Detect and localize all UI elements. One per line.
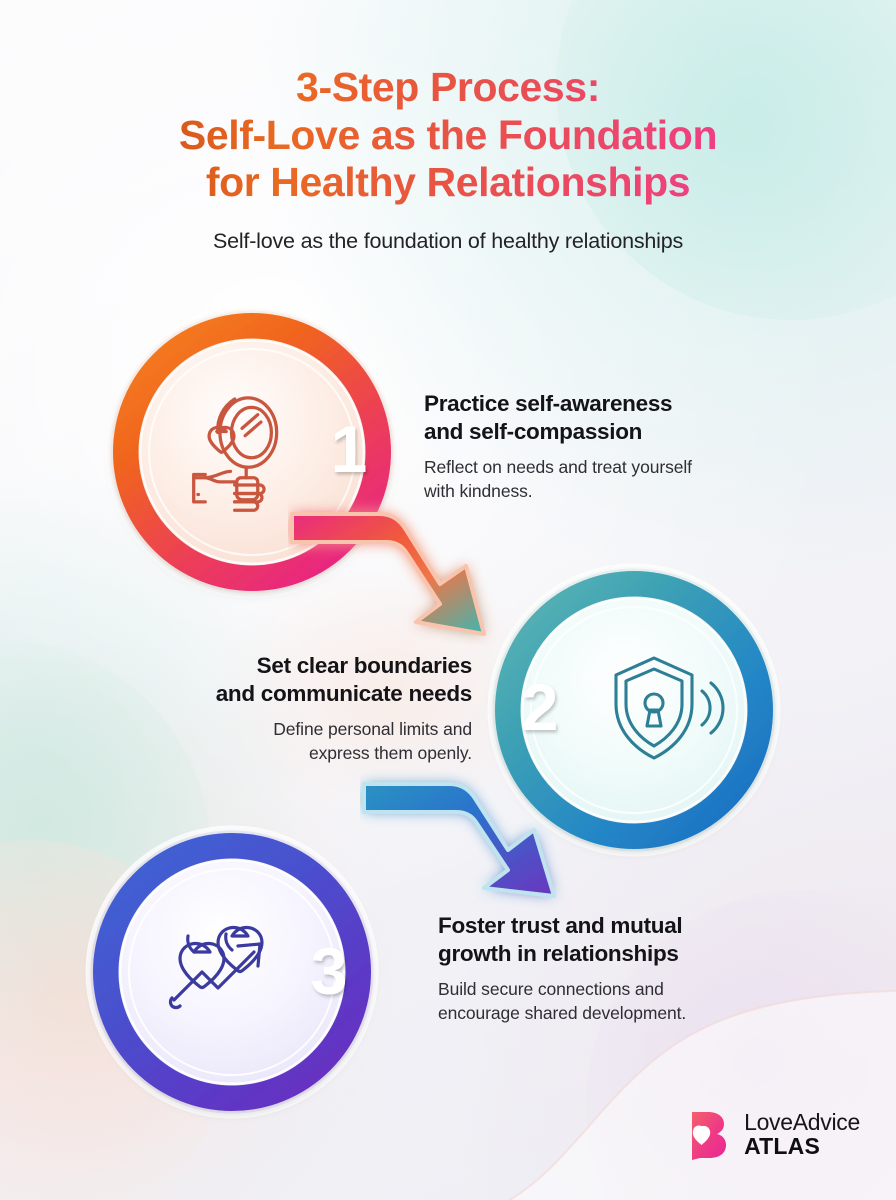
step-3-heading: Foster trust and mutual growth in relati… — [438, 912, 798, 968]
step-3-number: 3 — [311, 934, 348, 1008]
step-1-heading-line-2: and self-compassion — [424, 419, 642, 444]
brand-name-line-2: ATLAS — [744, 1134, 860, 1158]
step-2-heading-line-2: and communicate needs — [216, 681, 472, 706]
step-2-number: 2 — [522, 670, 559, 744]
step-3-body-line-2: encourage shared development. — [438, 1003, 686, 1023]
step-2-circle[interactable]: 2 — [484, 562, 784, 862]
step-3-text-block: Foster trust and mutual growth in relati… — [438, 912, 798, 1025]
step-2-body: Define personal limits and express them … — [120, 718, 472, 765]
step-1-body: Reflect on needs and treat yourself with… — [424, 456, 784, 503]
step-2-body-line-2: express them openly. — [309, 743, 472, 763]
b-heart-logo-icon — [682, 1108, 730, 1160]
step-2-heading: Set clear boundaries and communicate nee… — [120, 652, 472, 708]
step-3-body-line-1: Build secure connections and — [438, 979, 664, 999]
step-1-circle[interactable]: 1 — [104, 304, 404, 604]
page-title: 3-Step Process: Self-Love as the Foundat… — [0, 64, 896, 207]
brand-name-line-1: LoveAdvice — [744, 1110, 860, 1134]
page-subtitle: Self-love as the foundation of healthy r… — [0, 229, 896, 254]
infographic-page: 3-Step Process: Self-Love as the Foundat… — [0, 0, 896, 1200]
step-1-body-line-1: Reflect on needs and treat yourself — [424, 457, 692, 477]
step-2-text-block: Set clear boundaries and communicate nee… — [120, 652, 472, 765]
step-1-number: 1 — [331, 412, 368, 486]
step-1-heading: Practice self-awareness and self-compass… — [424, 390, 784, 446]
step-1-body-line-2: with kindness. — [424, 481, 533, 501]
title-line-3: for Healthy Relationships — [40, 159, 856, 207]
step-3-heading-line-2: growth in relationships — [438, 941, 679, 966]
step-3-circle[interactable]: 3 — [84, 824, 384, 1124]
title-line-1: 3-Step Process: — [40, 64, 856, 112]
brand-logo[interactable]: LoveAdvice ATLAS — [682, 1108, 860, 1160]
step-1-text-block: Practice self-awareness and self-compass… — [424, 390, 784, 503]
step-3-body: Build secure connections and encourage s… — [438, 978, 798, 1025]
header: 3-Step Process: Self-Love as the Foundat… — [0, 64, 896, 254]
step-3-heading-line-1: Foster trust and mutual — [438, 913, 682, 938]
step-1-heading-line-1: Practice self-awareness — [424, 391, 672, 416]
title-line-2: Self-Love as the Foundation — [40, 112, 856, 160]
step-2-body-line-1: Define personal limits and — [273, 719, 472, 739]
brand-name: LoveAdvice ATLAS — [744, 1110, 860, 1159]
step-2-heading-line-1: Set clear boundaries — [257, 653, 472, 678]
